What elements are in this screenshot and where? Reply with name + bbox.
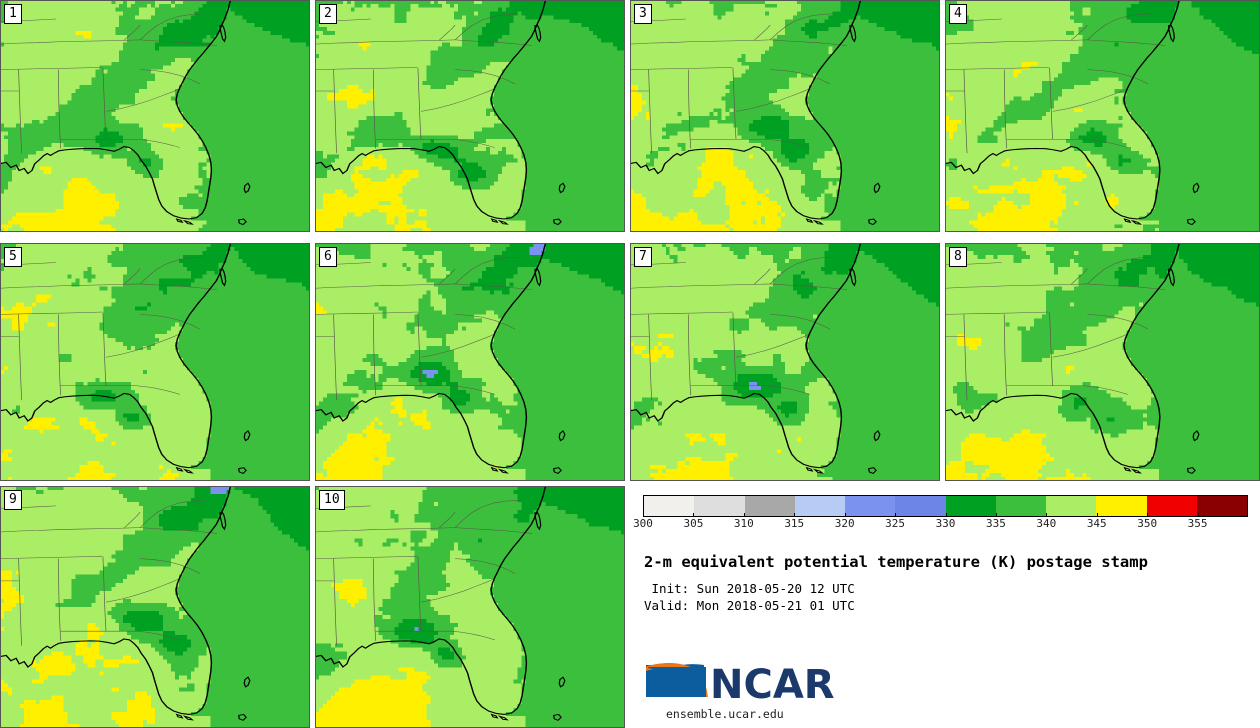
panel-number-badge-4: 4: [949, 4, 967, 24]
colorbar-tick-labels: 300305310315320325330335340345350355: [643, 517, 1248, 535]
postage-stamp-panel-5[interactable]: 5: [0, 243, 310, 481]
colorbar-segment-340: [1046, 496, 1096, 516]
colorbar-tick-320: 320: [835, 517, 855, 530]
legend-block: 300305310315320325330335340345350355 2-m…: [630, 485, 1260, 728]
colorbar-tick-345: 345: [1087, 517, 1107, 530]
colorbar-tick-300: 300: [633, 517, 653, 530]
figure-canvas: 12345678910 3003053103153203253303353403…: [0, 0, 1260, 728]
postage-stamp-panel-1[interactable]: 1: [0, 0, 310, 232]
colorbar-segment-320: [845, 496, 895, 516]
panel-number-badge-9: 9: [4, 490, 22, 510]
colorbar-tick-305: 305: [683, 517, 703, 530]
colorbar-segment-350: [1147, 496, 1197, 516]
ncar-wordmark: NCAR: [710, 662, 835, 708]
colorbar-segment-305: [694, 496, 744, 516]
colorbar-segment-315: [795, 496, 845, 516]
panel-number-badge-7: 7: [634, 247, 652, 267]
postage-stamp-panel-8[interactable]: 8: [945, 243, 1260, 481]
postage-stamp-panel-10[interactable]: 10: [315, 486, 625, 728]
colorbar-tick-335: 335: [986, 517, 1006, 530]
colorbar-tick-355: 355: [1188, 517, 1208, 530]
colorbar-tick-325: 325: [885, 517, 905, 530]
colorbar-segment-310: [745, 496, 795, 516]
colorbar-segment-330: [946, 496, 996, 516]
legend-title: 2-m equivalent potential temperature (K)…: [644, 553, 1148, 571]
colorbar-tick-315: 315: [784, 517, 804, 530]
colorbar-segment-355: [1197, 496, 1247, 516]
ncar-logo[interactable]: NCAR ensemble.ucar.edu: [644, 653, 894, 713]
colorbar-segment-345: [1096, 496, 1146, 516]
postage-stamp-panel-4[interactable]: 4: [945, 0, 1260, 232]
ensemble-url-label[interactable]: ensemble.ucar.edu: [666, 707, 784, 721]
panel-number-badge-3: 3: [634, 4, 652, 24]
postage-stamp-panel-9[interactable]: 9: [0, 486, 310, 728]
colorbar-segment-300: [644, 496, 694, 516]
panel-number-badge-6: 6: [319, 247, 337, 267]
panel-number-badge-8: 8: [949, 247, 967, 267]
init-time-label: Init: Sun 2018-05-20 12 UTC: [644, 581, 855, 596]
colorbar-tick-310: 310: [734, 517, 754, 530]
ncar-logo-mark: NCAR: [644, 653, 894, 713]
colorbar-tick-350: 350: [1137, 517, 1157, 530]
colorbar-segment-325: [895, 496, 945, 516]
colorbar-tick-330: 330: [936, 517, 956, 530]
postage-stamp-panel-6[interactable]: 6: [315, 243, 625, 481]
panel-number-badge-5: 5: [4, 247, 22, 267]
postage-stamp-panel-2[interactable]: 2: [315, 0, 625, 232]
panel-number-badge-1: 1: [4, 4, 22, 24]
colorbar-tick-340: 340: [1036, 517, 1056, 530]
colorbar-segment-335: [996, 496, 1046, 516]
panel-number-badge-2: 2: [319, 4, 337, 24]
postage-stamp-panel-7[interactable]: 7: [630, 243, 940, 481]
panel-number-badge-10: 10: [319, 490, 345, 510]
postage-stamp-panel-3[interactable]: 3: [630, 0, 940, 232]
valid-time-label: Valid: Mon 2018-05-21 01 UTC: [644, 598, 855, 613]
